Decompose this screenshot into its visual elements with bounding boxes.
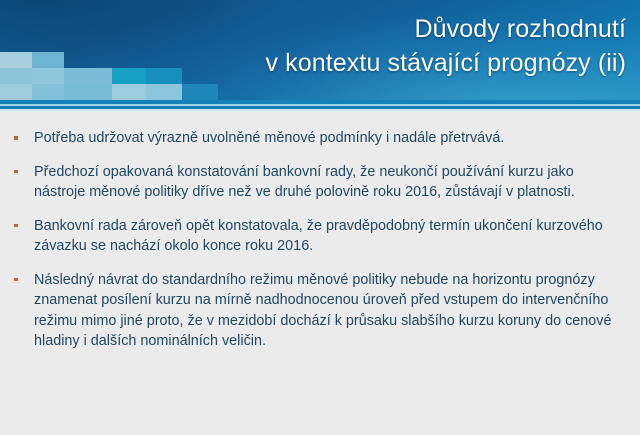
bullet-marker-icon <box>14 224 18 228</box>
mosaic-decoration <box>0 52 300 100</box>
mosaic-cell <box>32 68 64 84</box>
slide-title: Důvody rozhodnutí v kontextu stávající p… <box>266 17 627 76</box>
mosaic-cell <box>32 84 64 100</box>
slide-title-line-2: v kontextu stávající prognózy (ii) <box>266 51 627 76</box>
slide-header: Důvody rozhodnutí v kontextu stávající p… <box>0 0 640 100</box>
mosaic-cell <box>182 84 218 100</box>
mosaic-cell <box>146 68 182 84</box>
mosaic-cell <box>0 52 32 68</box>
slide-title-line-1: Důvody rozhodnutí <box>266 17 627 42</box>
bullet-item: Potřeba udržovat výrazně uvolněné měnové… <box>10 128 624 149</box>
mosaic-cell <box>146 84 182 100</box>
mosaic-cell <box>112 84 146 100</box>
mosaic-cell <box>64 84 112 100</box>
bullet-marker-icon <box>14 278 18 282</box>
bullet-text: Předchozí opakovaná konstatování bankovn… <box>34 162 624 203</box>
mosaic-cell <box>64 68 112 84</box>
mosaic-cell <box>112 68 146 84</box>
bullet-marker-icon <box>14 136 18 140</box>
presentation-slide: Důvody rozhodnutí v kontextu stávající p… <box>0 0 640 435</box>
bullet-marker-icon <box>14 170 18 174</box>
mosaic-cell <box>0 84 32 100</box>
slide-body: Potřeba udržovat výrazně uvolněné měnové… <box>0 111 640 435</box>
bullet-item: Bankovní rada zároveň opět konstatovala,… <box>10 216 624 257</box>
mosaic-cell <box>32 52 64 68</box>
bullet-item: Následný návrat do standardního režimu m… <box>10 270 624 352</box>
mosaic-cell <box>0 68 32 84</box>
bullet-text: Potřeba udržovat výrazně uvolněné měnové… <box>34 128 624 149</box>
bullet-text: Bankovní rada zároveň opět konstatovala,… <box>34 216 624 257</box>
bullet-text: Následný návrat do standardního režimu m… <box>34 270 624 352</box>
bullet-item: Předchozí opakovaná konstatování bankovn… <box>10 162 624 203</box>
